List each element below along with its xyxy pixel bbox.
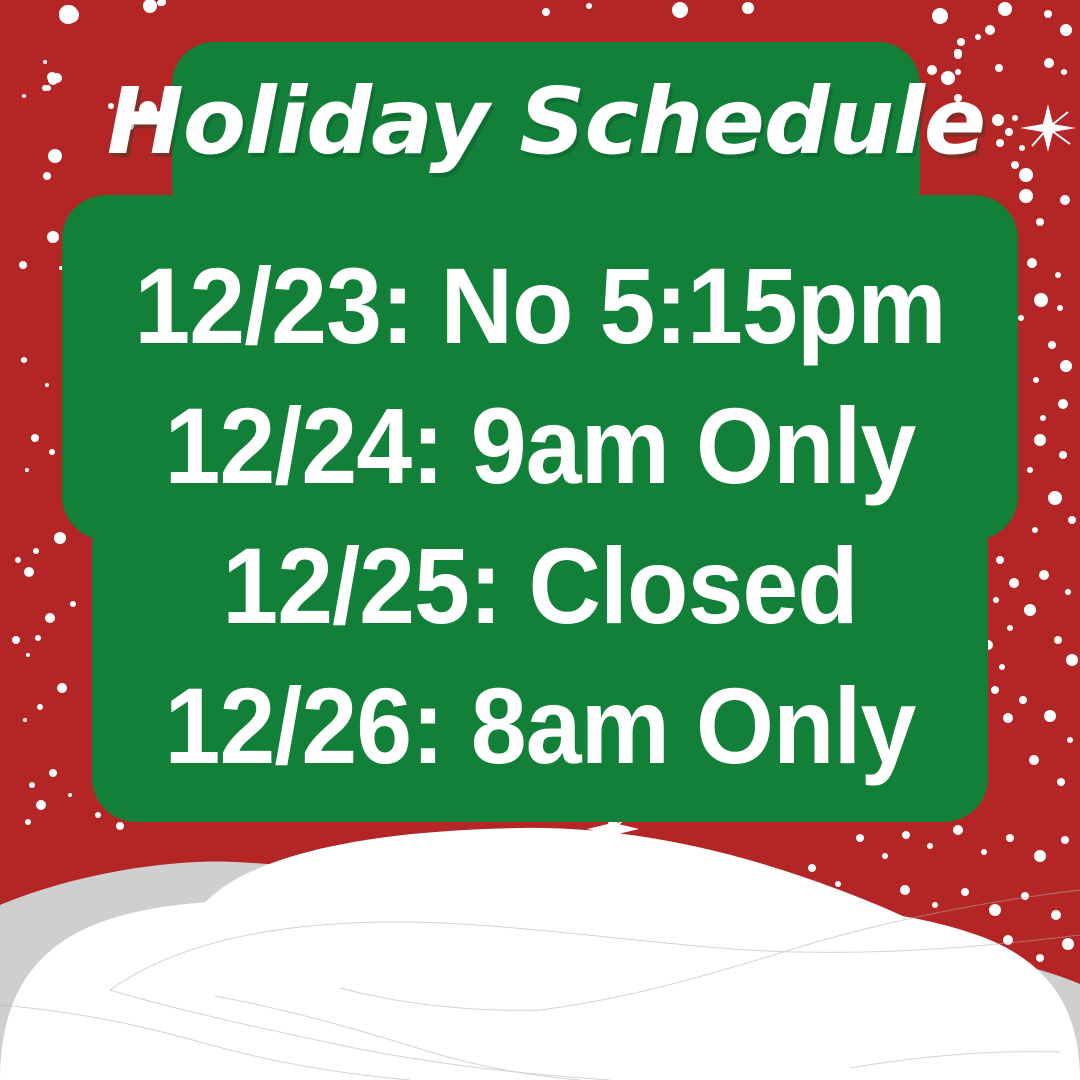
snow-drift-foreground [0, 0, 1080, 1080]
snow-mound-right [600, 908, 1080, 1080]
holiday-schedule-poster: Holiday Schedule 12/23: No 5:15pm 12/24:… [0, 0, 1080, 1080]
